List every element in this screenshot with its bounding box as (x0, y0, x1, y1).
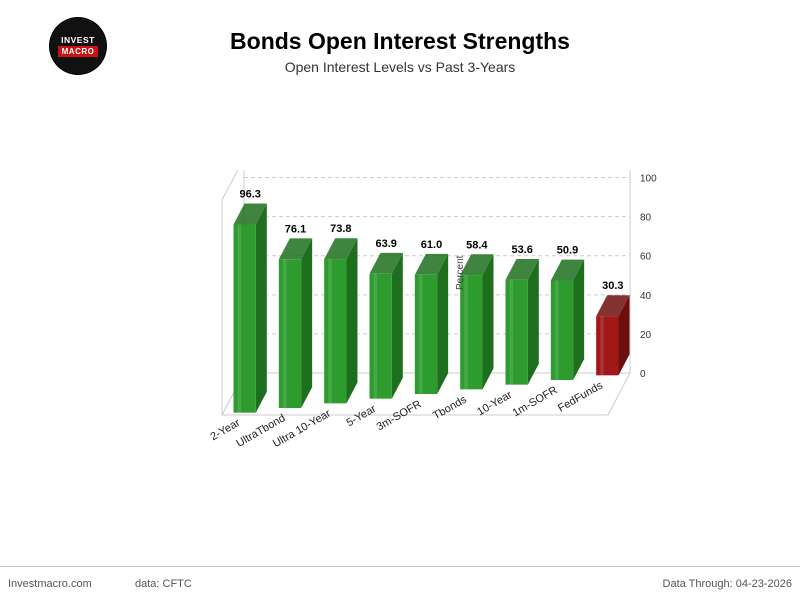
footer-data-through: Data Through: 04-23-2026 (663, 578, 792, 590)
bar-value-label: 63.9 (375, 238, 396, 250)
bar-value-label: 73.8 (330, 223, 351, 235)
bar-value-label: 61.0 (421, 239, 442, 251)
svg-text:40: 40 (640, 291, 652, 302)
bar-chart-3d: 02040608010096.32-Year76.1UltraTbond73.8… (200, 170, 670, 480)
chart-title: Bonds Open Interest Strengths (0, 28, 800, 55)
bar-value-label: 50.9 (557, 245, 578, 257)
bar-value-label: 53.6 (511, 244, 532, 256)
footer: Investmacro.com data: CFTC Data Through:… (0, 575, 800, 597)
bar-value-label: 96.3 (239, 189, 260, 201)
svg-text:60: 60 (640, 252, 652, 263)
bar-value-label: 30.3 (602, 280, 623, 292)
bar-value-label: 76.1 (285, 223, 306, 235)
footer-divider (0, 566, 800, 567)
chart-plot-area: 02040608010096.32-Year76.1UltraTbond73.8… (200, 170, 670, 470)
y-axis-label: Percent (455, 256, 466, 290)
footer-site: Investmacro.com (8, 578, 92, 590)
svg-text:80: 80 (640, 213, 652, 224)
svg-text:100: 100 (640, 174, 657, 185)
bar-value-label: 58.4 (466, 239, 488, 251)
svg-text:0: 0 (640, 369, 646, 380)
chart-subtitle: Open Interest Levels vs Past 3-Years (0, 59, 800, 75)
footer-data-source: data: CFTC (135, 578, 192, 590)
svg-text:20: 20 (640, 330, 652, 341)
